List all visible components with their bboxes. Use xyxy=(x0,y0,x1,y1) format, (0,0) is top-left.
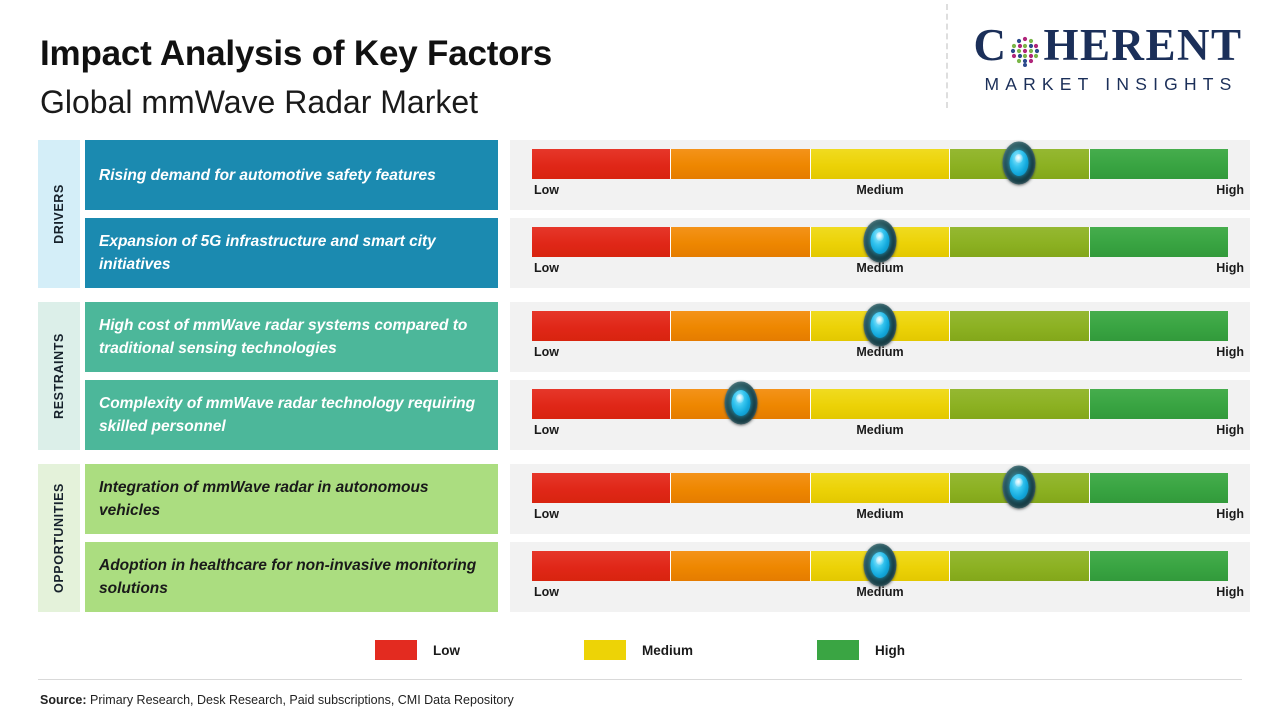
category-tab-drivers: DRIVERS xyxy=(38,140,80,288)
gauge-segment-low xyxy=(532,311,670,341)
gauge-segment-medium xyxy=(810,149,949,179)
category-label: DRIVERS xyxy=(52,184,66,244)
gauge-segment-low-medium xyxy=(670,311,809,341)
gauge-segment-medium-high xyxy=(949,311,1088,341)
gauge-segment-high xyxy=(1089,551,1228,581)
page-subtitle: Global mmWave Radar Market xyxy=(40,80,552,124)
scale-label-high: High xyxy=(1216,585,1244,599)
page-title: Impact Analysis of Key Factors xyxy=(40,32,552,76)
group-restraints: RESTRAINTS High cost of mmWave radar sys… xyxy=(0,302,1280,450)
scale-label-high: High xyxy=(1216,345,1244,359)
gauge-track xyxy=(532,473,1228,503)
scale-label-low: Low xyxy=(534,261,559,275)
legend-swatch-medium xyxy=(584,640,626,660)
scale-label-medium: Medium xyxy=(856,345,903,359)
scale-label-low: Low xyxy=(534,585,559,599)
category-label: OPPORTUNITIES xyxy=(52,483,66,593)
table-row: Rising demand for automotive safety feat… xyxy=(80,140,1280,210)
factor-box: Integration of mmWave radar in autonomou… xyxy=(85,464,498,534)
category-label: RESTRAINTS xyxy=(52,333,66,419)
group-rows: High cost of mmWave radar systems compar… xyxy=(80,302,1280,450)
gauge-segment-low xyxy=(532,227,670,257)
legend-label-high: High xyxy=(875,643,905,658)
gauge-segment-low-medium xyxy=(670,473,809,503)
legend-swatch-high xyxy=(817,640,859,660)
impact-gauge[interactable]: Low Medium High xyxy=(510,380,1250,450)
slide-header: Impact Analysis of Key Factors Global mm… xyxy=(0,0,1280,130)
factor-box: High cost of mmWave radar systems compar… xyxy=(85,302,498,372)
gauge-scale: Low Medium High xyxy=(532,258,1228,284)
gauge-segment-low-medium xyxy=(670,389,809,419)
impact-gauge[interactable]: Low Medium High xyxy=(510,302,1250,372)
gauge-segment-medium xyxy=(810,227,949,257)
group-rows: Integration of mmWave radar in autonomou… xyxy=(80,464,1280,612)
legend-label-low: Low xyxy=(433,643,460,658)
table-row: High cost of mmWave radar systems compar… xyxy=(80,302,1280,372)
impact-gauge[interactable]: Low Medium High xyxy=(510,542,1250,612)
category-tab-opportunities: OPPORTUNITIES xyxy=(38,464,80,612)
scale-label-low: Low xyxy=(534,507,559,521)
logo-tagline: MARKET INSIGHTS xyxy=(958,74,1258,95)
globe-icon xyxy=(1008,30,1042,64)
scale-label-low: Low xyxy=(534,423,559,437)
gauge-segment-medium xyxy=(810,311,949,341)
gauge-segment-high xyxy=(1089,389,1228,419)
gauge-segment-medium-high xyxy=(949,389,1088,419)
scale-label-medium: Medium xyxy=(856,507,903,521)
group-rows: Rising demand for automotive safety feat… xyxy=(80,140,1280,288)
factor-box: Adoption in healthcare for non-invasive … xyxy=(85,542,498,612)
gauge-track xyxy=(532,227,1228,257)
gauge-segment-medium xyxy=(810,551,949,581)
scale-label-low: Low xyxy=(534,183,559,197)
gauge-track xyxy=(532,149,1228,179)
source-note: Source: Primary Research, Desk Research,… xyxy=(40,693,514,707)
gauge-segment-low-medium xyxy=(670,149,809,179)
gauge-segment-low xyxy=(532,389,670,419)
legend-label-medium: Medium xyxy=(642,643,693,658)
gauge-segment-low-medium xyxy=(670,227,809,257)
scale-label-medium: Medium xyxy=(856,585,903,599)
table-row: Integration of mmWave radar in autonomou… xyxy=(80,464,1280,534)
factor-box: Rising demand for automotive safety feat… xyxy=(85,140,498,210)
chart-legend: Low Medium High xyxy=(0,640,1280,660)
group-opportunities: OPPORTUNITIES Integration of mmWave rada… xyxy=(0,464,1280,612)
gauge-segment-high xyxy=(1089,311,1228,341)
source-label: Source: xyxy=(40,693,87,707)
gauge-scale: Low Medium High xyxy=(532,582,1228,608)
source-value: Primary Research, Desk Research, Paid su… xyxy=(87,693,514,707)
gauge-track xyxy=(532,551,1228,581)
impact-gauge[interactable]: Low Medium High xyxy=(510,464,1250,534)
impact-matrix: DRIVERS Rising demand for automotive saf… xyxy=(0,140,1280,612)
impact-gauge[interactable]: Low Medium High xyxy=(510,218,1250,288)
gauge-segment-medium xyxy=(810,473,949,503)
factor-box: Complexity of mmWave radar technology re… xyxy=(85,380,498,450)
gauge-segment-medium-high xyxy=(949,149,1088,179)
scale-label-medium: Medium xyxy=(856,261,903,275)
scale-label-high: High xyxy=(1216,507,1244,521)
logo-letters-herent: HERENT xyxy=(1043,22,1242,68)
scale-label-high: High xyxy=(1216,183,1244,197)
gauge-track xyxy=(532,389,1228,419)
gauge-segment-medium-high xyxy=(949,473,1088,503)
group-drivers: DRIVERS Rising demand for automotive saf… xyxy=(0,140,1280,288)
factor-box: Expansion of 5G infrastructure and smart… xyxy=(85,218,498,288)
gauge-track xyxy=(532,311,1228,341)
legend-swatch-low xyxy=(375,640,417,660)
gauge-segment-low xyxy=(532,551,670,581)
footer-divider xyxy=(38,679,1242,680)
gauge-segment-medium-high xyxy=(949,551,1088,581)
table-row: Complexity of mmWave radar technology re… xyxy=(80,380,1280,450)
table-row: Adoption in healthcare for non-invasive … xyxy=(80,542,1280,612)
gauge-scale: Low Medium High xyxy=(532,504,1228,530)
title-block: Impact Analysis of Key Factors Global mm… xyxy=(40,32,552,124)
gauge-segment-medium-high xyxy=(949,227,1088,257)
legend-item-medium: Medium xyxy=(584,640,693,660)
gauge-scale: Low Medium High xyxy=(532,180,1228,206)
scale-label-medium: Medium xyxy=(856,423,903,437)
gauge-scale: Low Medium High xyxy=(532,420,1228,446)
scale-label-high: High xyxy=(1216,261,1244,275)
scale-label-high: High xyxy=(1216,423,1244,437)
gauge-segment-low xyxy=(532,473,670,503)
gauge-segment-high xyxy=(1089,473,1228,503)
scale-label-medium: Medium xyxy=(856,183,903,197)
header-divider xyxy=(946,4,948,108)
company-logo: C xyxy=(958,22,1258,95)
logo-letter-c: C xyxy=(973,22,1007,68)
gauge-segment-high xyxy=(1089,227,1228,257)
legend-item-high: High xyxy=(817,640,905,660)
scale-label-low: Low xyxy=(534,345,559,359)
category-tab-restraints: RESTRAINTS xyxy=(38,302,80,450)
gauge-segment-high xyxy=(1089,149,1228,179)
table-row: Expansion of 5G infrastructure and smart… xyxy=(80,218,1280,288)
gauge-segment-low-medium xyxy=(670,551,809,581)
slide-canvas: Impact Analysis of Key Factors Global mm… xyxy=(0,0,1280,720)
gauge-segment-medium xyxy=(810,389,949,419)
gauge-segment-low xyxy=(532,149,670,179)
impact-gauge[interactable]: Low Medium High xyxy=(510,140,1250,210)
legend-item-low: Low xyxy=(375,640,460,660)
logo-wordmark: C xyxy=(958,22,1258,68)
gauge-scale: Low Medium High xyxy=(532,342,1228,368)
